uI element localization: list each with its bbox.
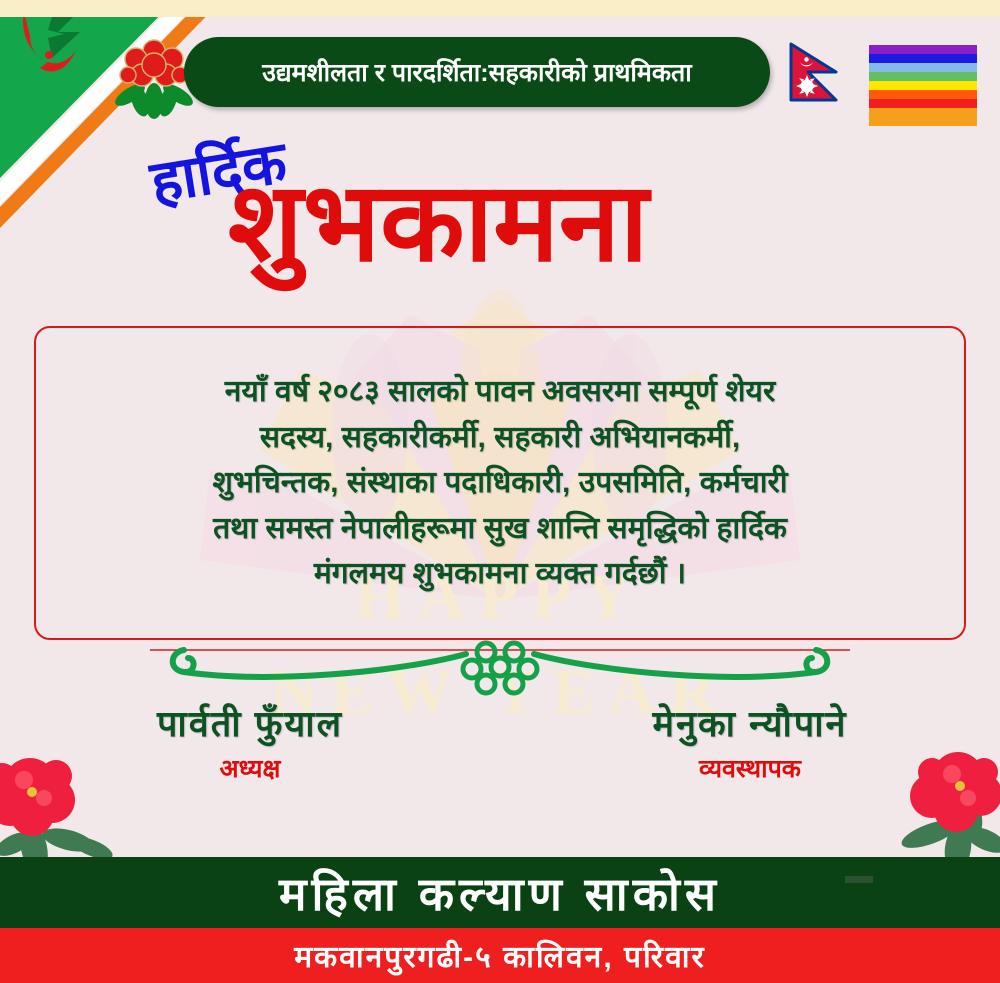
greeting-shubhakamana: शुभकामना (228, 168, 648, 278)
slogan-text: उद्यमशीलता र पारदर्शिता:सहकारीको प्राथमि… (262, 55, 692, 89)
message-line: सदस्य, सहकारीकर्मी, सहकारी अभियानकर्मी, (260, 415, 741, 461)
greeting-block: हार्दिक शुभकामना (0, 120, 1000, 310)
footer-dash-decoration (845, 876, 873, 883)
message-line: शुभचिन्तक, संस्थाका पदाधिकारी, उपसमिति, … (212, 460, 787, 506)
greeting-card: HAPPY NEW YEAR (0, 0, 1000, 983)
top-accent-strip (0, 0, 1000, 17)
message-line: मंगलमय शुभकामना व्यक्त गर्दछौं । (314, 551, 686, 597)
nepal-flag-icon (788, 42, 856, 124)
header-row: उद्यमशीलता र पारदर्शिता:सहकारीको प्राथमि… (0, 17, 1000, 122)
message-line: तथा समस्त नेपालीहरूमा सुख शान्ति समृद्धि… (213, 506, 787, 552)
footer-address-bar: मकवानपुरगढी-५ कालिवन, परिवार (0, 928, 1000, 983)
organization-name: महिला कल्याण साकोस (279, 862, 721, 924)
cooperative-rainbow-flag-icon (869, 45, 977, 117)
signatory-name: मेनुका न्यौपाने (500, 698, 1000, 747)
ornamental-divider (150, 636, 850, 696)
rhododendron-flower-bottom-right-icon (872, 748, 1000, 870)
organization-address: मकवानपुरगढी-५ कालिवन, परिवार (294, 935, 706, 976)
message-line: नयाँ वर्ष २०८३ सालको पावन अवसरमा सम्पूर्… (225, 369, 775, 415)
slogan-banner: उद्यमशीलता र पारदर्शिता:सहकारीको प्राथमि… (184, 37, 770, 107)
signatory-name: पार्वती फुँयाल (0, 698, 500, 747)
signatories-row: पार्वती फुँयाल अध्यक्ष मेनुका न्यौपाने व… (0, 698, 1000, 808)
rhododendron-flower-bottom-left-icon (0, 752, 134, 872)
message-box: नयाँ वर्ष २०८३ सालको पावन अवसरमा सम्पूर्… (34, 326, 966, 640)
footer-organization-bar: महिला कल्याण साकोस (0, 857, 1000, 928)
